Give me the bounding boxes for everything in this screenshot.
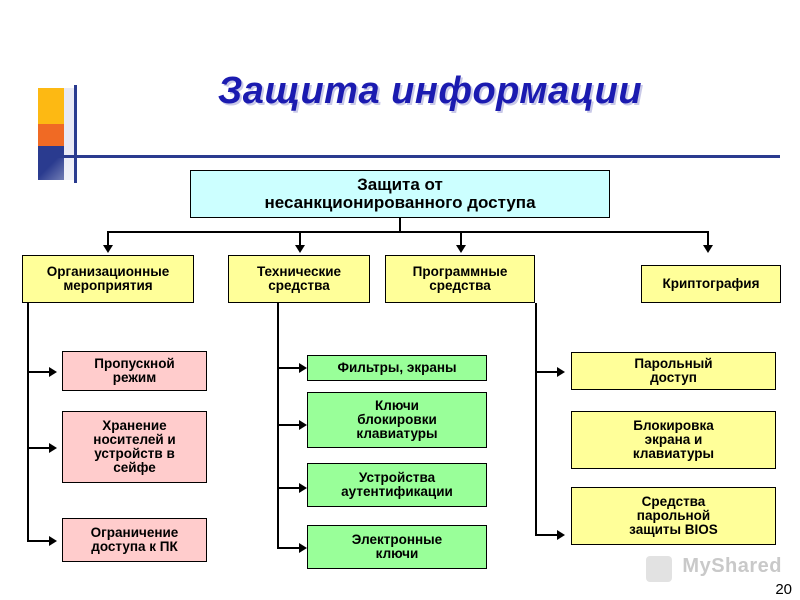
organizational-arrow-1	[49, 367, 57, 377]
organizational-link-3	[27, 540, 51, 542]
technical-link-3	[277, 487, 301, 489]
program-arrow-1	[557, 367, 565, 377]
decor-vertical-rule	[74, 85, 77, 183]
root-node: Защита от несанкционированного доступа	[190, 170, 610, 218]
technical-link-2	[277, 424, 301, 426]
program-item-1: Парольный доступ	[571, 352, 776, 390]
program-item-3-line1: Средства	[642, 495, 706, 509]
technical-item-2-line2: блокировки	[357, 413, 437, 427]
page-number: 20	[775, 581, 792, 598]
organizational-item-1: Пропускной режим	[62, 351, 207, 391]
technical-item-2-line3: клавиатуры	[356, 427, 437, 441]
technical-item-2: Ключи блокировки клавиатуры	[307, 392, 487, 448]
organizational-link-2	[27, 447, 51, 449]
level2-node-cryptography-line1: Криптография	[663, 277, 760, 291]
level2-arrow-4	[703, 245, 713, 253]
program-item-2-line2: экрана и	[645, 433, 703, 447]
program-item-2-line1: Блокировка	[633, 419, 713, 433]
technical-item-3-line2: аутентификации	[341, 485, 453, 499]
level2-arrow-2	[295, 245, 305, 253]
watermark-label: MyShared	[682, 555, 782, 578]
level2-node-organizational: Организационные мероприятия	[22, 255, 194, 303]
watermark-icon	[646, 556, 672, 582]
root-stem	[399, 218, 401, 232]
level2-bus	[107, 231, 707, 233]
technical-item-3-line1: Устройства	[359, 471, 435, 485]
technical-arrow-3	[299, 483, 307, 493]
organizational-item-3-line1: Ограничение	[91, 526, 179, 540]
level2-node-technical: Технические средства	[228, 255, 370, 303]
root-node-line1: Защита от	[357, 176, 443, 194]
organizational-item-2-line1: Хранение	[102, 419, 166, 433]
decor-orange-square-2	[38, 124, 64, 146]
program-spine	[535, 303, 537, 535]
level2-node-program-line1: Программные	[413, 265, 508, 279]
decor-blue-square	[38, 146, 64, 180]
technical-item-4-line1: Электронные	[352, 533, 442, 547]
decor-horizontal-rule	[38, 155, 780, 158]
technical-item-2-line1: Ключи	[375, 399, 419, 413]
program-item-3: Средства парольной защиты BIOS	[571, 487, 776, 545]
organizational-spine	[27, 303, 29, 541]
technical-arrow-1	[299, 363, 307, 373]
program-arrow-2	[557, 530, 565, 540]
slide-canvas: Защита информации Защита от несанкционир…	[0, 0, 800, 600]
program-item-2-line3: клавиатуры	[633, 447, 714, 461]
technical-arrow-4	[299, 543, 307, 553]
decor-light-blue-bar	[64, 88, 74, 180]
organizational-item-1-line1: Пропускной	[94, 357, 175, 371]
program-link-2	[535, 534, 559, 536]
organizational-item-2-line2: носителей и	[93, 433, 175, 447]
technical-item-4-line2: ключи	[376, 547, 419, 561]
program-item-1-line2: доступ	[650, 371, 697, 385]
organizational-item-1-line2: режим	[113, 371, 156, 385]
organizational-item-3: Ограничение доступа к ПК	[62, 518, 207, 562]
level2-node-organizational-line2: мероприятия	[63, 279, 152, 293]
organizational-item-2-line3: устройств в	[94, 447, 175, 461]
organizational-arrow-3	[49, 536, 57, 546]
organizational-item-2-line4: сейфе	[113, 461, 155, 475]
root-node-line2: несанкционированного доступа	[264, 194, 535, 212]
technical-arrow-2	[299, 420, 307, 430]
program-item-3-line2: парольной	[637, 509, 710, 523]
program-item-1-line1: Парольный	[634, 357, 712, 371]
organizational-arrow-2	[49, 443, 57, 453]
level2-node-program: Программные средства	[385, 255, 535, 303]
program-item-2: Блокировка экрана и клавиатуры	[571, 411, 776, 469]
level2-node-technical-line2: средства	[268, 279, 329, 293]
technical-link-4	[277, 547, 301, 549]
program-item-3-line3: защиты BIOS	[629, 523, 718, 537]
page-title: Защита информации	[110, 70, 750, 113]
level2-arrow-3	[456, 245, 466, 253]
technical-item-3: Устройства аутентификации	[307, 463, 487, 507]
technical-item-1: Фильтры, экраны	[307, 355, 487, 381]
organizational-item-2: Хранение носителей и устройств в сейфе	[62, 411, 207, 483]
level2-node-cryptography: Криптография	[641, 265, 781, 303]
level2-node-program-line2: средства	[429, 279, 490, 293]
technical-item-4: Электронные ключи	[307, 525, 487, 569]
program-link-1	[535, 371, 559, 373]
level2-node-technical-line1: Технические	[257, 265, 341, 279]
technical-link-1	[277, 367, 301, 369]
organizational-link-1	[27, 371, 51, 373]
organizational-item-3-line2: доступа к ПК	[91, 540, 177, 554]
technical-item-1-line1: Фильтры, экраны	[337, 361, 456, 375]
decor-orange-square	[38, 88, 64, 124]
level2-arrow-1	[103, 245, 113, 253]
level2-node-organizational-line1: Организационные	[47, 265, 170, 279]
